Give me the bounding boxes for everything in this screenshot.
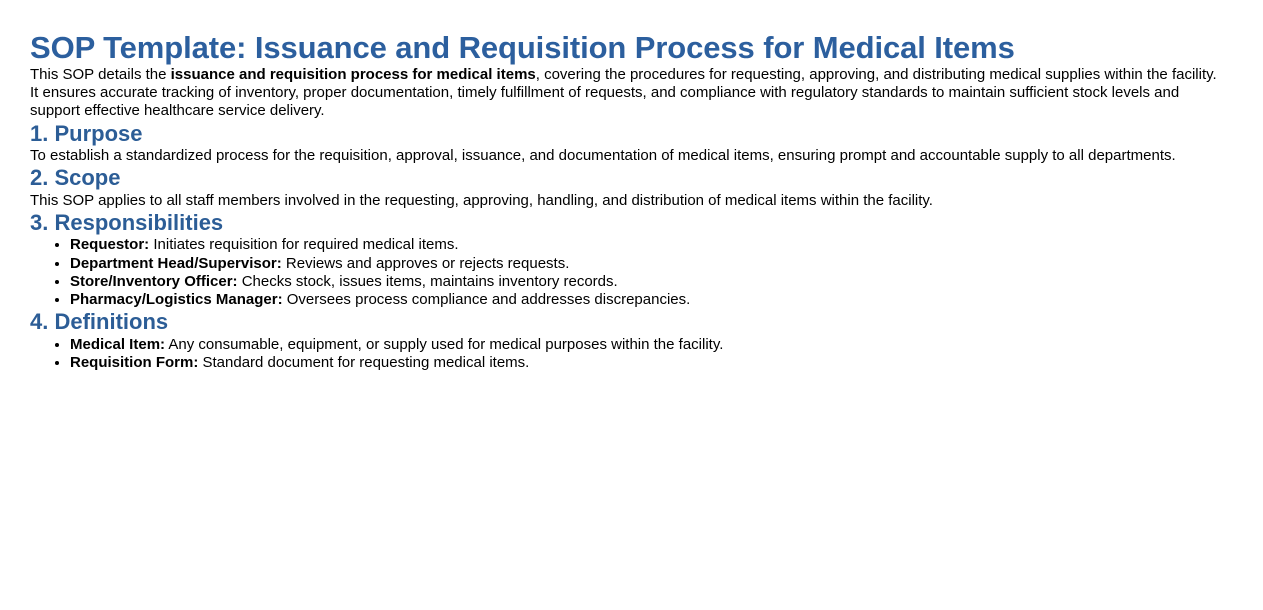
list-item-desc: Any consumable, equipment, or supply use… — [165, 336, 723, 353]
list-item: Requisition Form: Standard document for … — [70, 354, 1218, 372]
section-heading-scope: 2. Scope — [30, 165, 1218, 191]
intro-bold-phrase: issuance and requisition process for med… — [171, 66, 536, 83]
list-item-desc: Initiates requisition for required medic… — [149, 236, 458, 253]
list-item-term: Pharmacy/Logistics Manager: — [70, 291, 283, 308]
definitions-list: Medical Item: Any consumable, equipment,… — [30, 336, 1218, 373]
section-heading-definitions: 4. Definitions — [30, 309, 1218, 335]
list-item: Requestor: Initiates requisition for req… — [70, 236, 1218, 254]
document-page: SOP Template: Issuance and Requisition P… — [0, 0, 1263, 610]
list-item: Medical Item: Any consumable, equipment,… — [70, 336, 1218, 354]
section-heading-purpose: 1. Purpose — [30, 121, 1218, 147]
list-item-term: Store/Inventory Officer: — [70, 273, 238, 290]
list-item: Pharmacy/Logistics Manager: Oversees pro… — [70, 291, 1218, 309]
list-item-desc: Oversees process compliance and addresse… — [283, 291, 691, 308]
list-item-desc: Checks stock, issues items, maintains in… — [238, 273, 618, 290]
responsibilities-list: Requestor: Initiates requisition for req… — [30, 236, 1218, 309]
list-item-term: Medical Item: — [70, 336, 165, 353]
list-item-desc: Reviews and approves or rejects requests… — [282, 255, 570, 272]
page-title: SOP Template: Issuance and Requisition P… — [30, 0, 1218, 66]
section-body-scope: This SOP applies to all staff members in… — [30, 192, 1218, 210]
intro-part-1: This SOP details the — [30, 66, 171, 83]
section-body-purpose: To establish a standardized process for … — [30, 147, 1218, 165]
intro-paragraph: This SOP details the issuance and requis… — [30, 66, 1218, 121]
list-item-term: Department Head/Supervisor: — [70, 255, 282, 272]
list-item-term: Requisition Form: — [70, 354, 198, 371]
list-item-term: Requestor: — [70, 236, 149, 253]
list-item-desc: Standard document for requesting medical… — [198, 354, 529, 371]
list-item: Department Head/Supervisor: Reviews and … — [70, 255, 1218, 273]
section-heading-responsibilities: 3. Responsibilities — [30, 210, 1218, 236]
list-item: Store/Inventory Officer: Checks stock, i… — [70, 273, 1218, 291]
